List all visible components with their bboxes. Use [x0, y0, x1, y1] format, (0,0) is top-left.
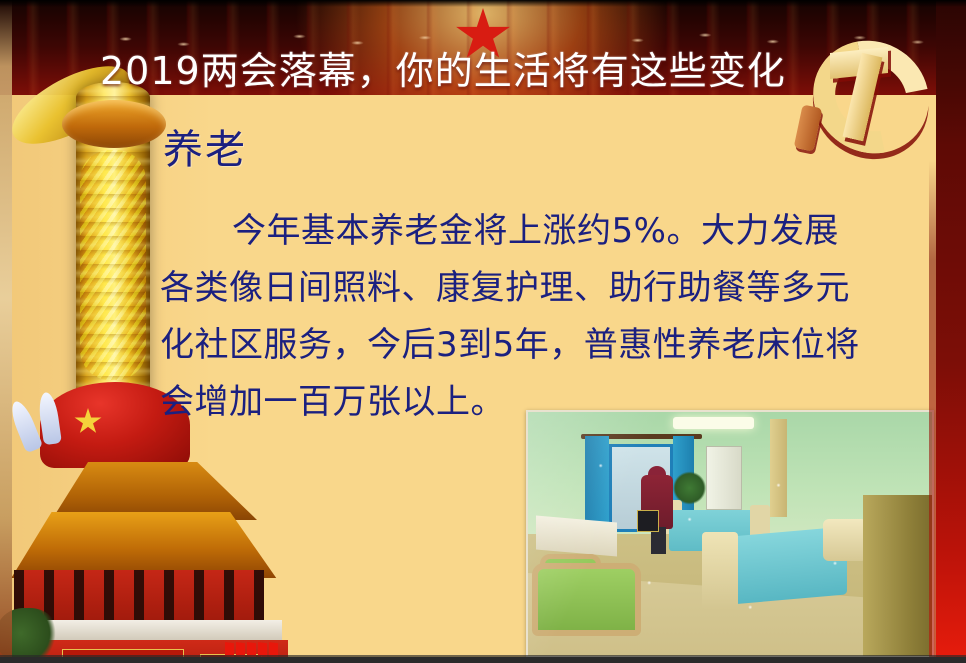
tiananmen-gate-icon	[0, 420, 300, 663]
right-inner-border	[929, 160, 936, 663]
section-heading: 养老	[163, 126, 247, 174]
tiananmen-upper-roof	[10, 462, 270, 520]
sickle-handle	[794, 104, 823, 151]
photo-green-armchair	[532, 563, 641, 636]
elder-care-room-photo	[526, 410, 934, 658]
left-edge-border	[0, 0, 12, 663]
slide-title: 2019两会落幕，你的生活将有这些变化	[100, 52, 786, 90]
huabiao-collar	[62, 100, 166, 148]
huabiao-dragon-relief	[80, 150, 146, 380]
right-edge-border	[936, 0, 966, 663]
photo-wardrobe	[863, 495, 932, 656]
tiananmen-columns	[14, 570, 264, 624]
tiananmen-lower-roof	[0, 512, 282, 578]
body-line-1: 今年基本养老金将上涨约5%。大力发展	[160, 203, 920, 260]
photo-handbag	[637, 510, 659, 532]
body-paragraph: 今年基本养老金将上涨约5%。大力发展 各类像日间照料、康复护理、助行助餐等多元 …	[160, 203, 920, 431]
bottom-edge-border	[0, 657, 966, 663]
body-line-2: 各类像日间照料、康复护理、助行助餐等多元	[160, 260, 920, 317]
hammer-and-sickle-icon	[788, 14, 956, 164]
presentation-slide: 2019两会落幕，你的生活将有这些变化 养老 今年基本养老金将上涨约5%。大力发…	[0, 0, 966, 663]
body-line-3: 化社区服务，今后3到5年，普惠性养老床位将	[160, 317, 920, 374]
top-edge-border	[0, 0, 966, 7]
